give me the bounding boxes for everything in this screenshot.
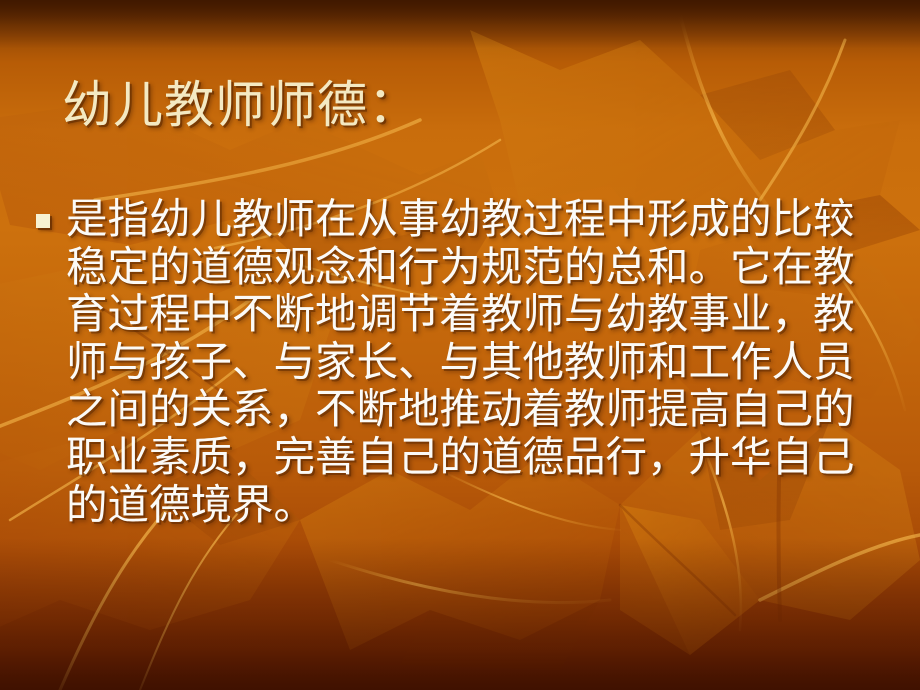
body-line: 稳定的道德观念和行为规范的总和。它在教 <box>66 244 912 292</box>
body-line: 职业素质，完善自己的道德品行，升华自己 <box>66 434 912 482</box>
body-line: 的道德境界。 <box>66 482 912 530</box>
slide-title: 幼儿教师师德： <box>62 78 419 133</box>
body-line: 是指幼儿教师在从事幼教过程中形成的比较 <box>66 196 912 244</box>
body-line: 师与孩子、与家长、与其他教师和工作人员 <box>66 339 912 387</box>
body-line: 育过程中不断地调节着教师与幼教事业，教 <box>66 291 912 339</box>
body-line: 之间的关系，不断地推动着教师提高自己的 <box>66 386 912 434</box>
body-paragraph: 是指幼儿教师在从事幼教过程中形成的比较 稳定的道德观念和行为规范的总和。它在教 … <box>66 196 912 529</box>
bullet-list-item: 是指幼儿教师在从事幼教过程中形成的比较 稳定的道德观念和行为规范的总和。它在教 … <box>36 196 912 529</box>
presentation-slide: 幼儿教师师德： 是指幼儿教师在从事幼教过程中形成的比较 稳定的道德观念和行为规范… <box>0 0 920 690</box>
square-bullet-icon <box>36 214 50 228</box>
